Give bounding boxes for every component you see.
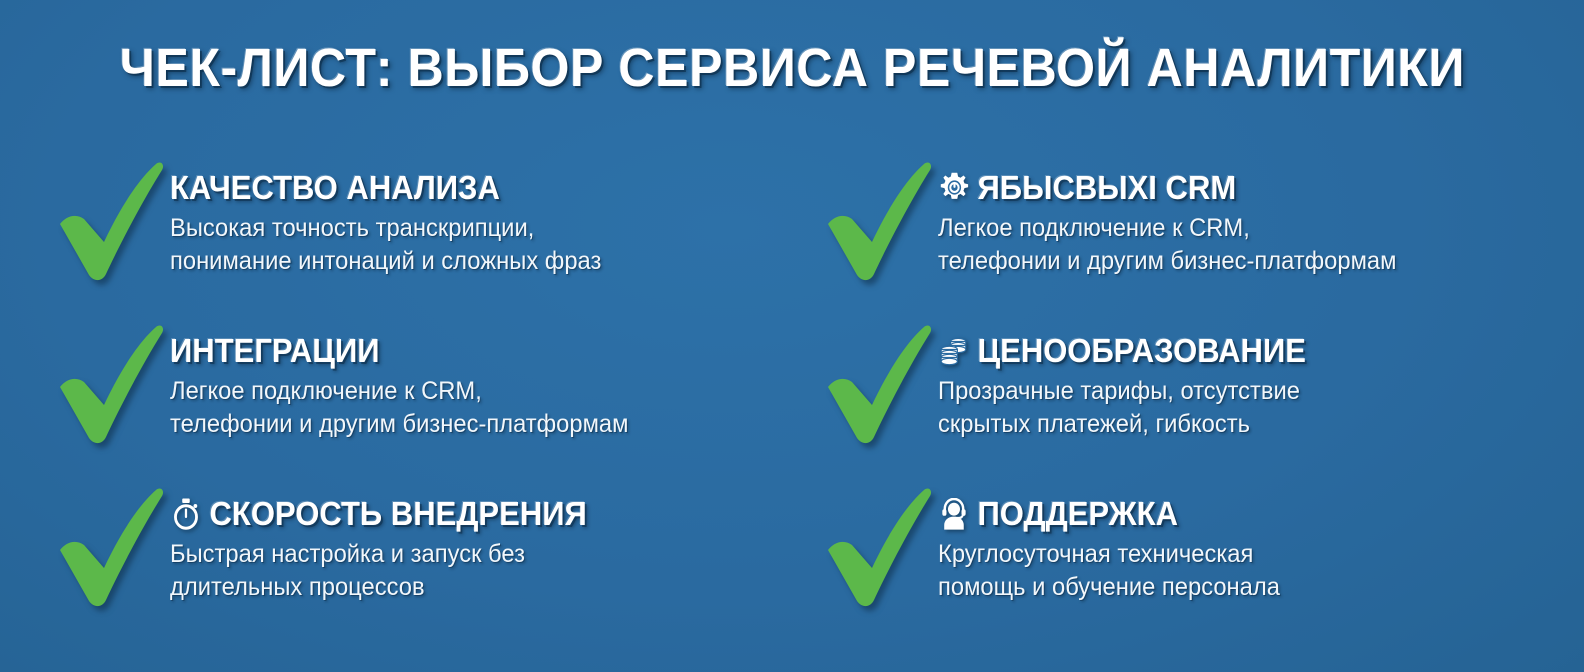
support-agent-icon [938,497,970,531]
check-mark-icon [820,156,938,282]
checklist-item: ЯБЫСВЫХІ CRM Легкое подключение к CRM, т… [820,150,1564,313]
checklist-item-text: ЦЕНООБРАЗОВАНИЕ Прозрачные тарифы, отсут… [938,313,1564,441]
check-mark-icon [52,319,170,445]
check-mark-icon [820,482,938,608]
page-title: ЧЕК-ЛИСТ: ВЫБОР СЕРВИСА РЕЧЕВОЙ АНАЛИТИК… [119,40,1464,97]
checklist-item: ИНТЕГРАЦИИ Легкое подключение к CRM, тел… [52,313,762,476]
checklist-item-heading-text: ЯБЫСВЫХІ CRM [977,170,1236,206]
gear-icon [938,171,970,205]
checklist-item: КАЧЕСТВО АНАЛИЗА Высокая точность транск… [52,150,762,313]
stopwatch-icon [170,497,202,531]
checklist-item-heading: СКОРОСТЬ ВНЕДРЕНИЯ [170,496,726,532]
checklist-item-description: Круглосуточная техническая помощь и обуч… [938,538,1533,604]
title-bar: ЧЕК-ЛИСТ: ВЫБОР СЕРВИСА РЕЧЕВОЙ АНАЛИТИК… [0,40,1584,97]
checklist-item-heading-text: ПОДДЕРЖКА [977,496,1178,532]
checklist-item-heading: ИНТЕГРАЦИИ [170,333,726,369]
checklist-item-heading: ЯБЫСВЫХІ CRM [938,170,1526,206]
checklist-columns: КАЧЕСТВО АНАЛИЗА Высокая точность транск… [0,150,1584,660]
checklist-item-description: Прозрачные тарифы, отсутствие скрытых пл… [938,375,1533,441]
checklist-item-heading-text: ИНТЕГРАЦИИ [170,333,380,369]
checklist-item-heading-text: ЦЕНООБРАЗОВАНИЕ [977,333,1305,369]
checklist-item: ЦЕНООБРАЗОВАНИЕ Прозрачные тарифы, отсут… [820,313,1564,476]
coins-icon [938,334,970,368]
checklist-column-right: ЯБЫСВЫХІ CRM Легкое подключение к CRM, т… [792,150,1584,660]
check-mark-icon [820,319,938,445]
checklist-item-heading-text: КАЧЕСТВО АНАЛИЗА [170,170,500,206]
checklist-item: СКОРОСТЬ ВНЕДРЕНИЯ Быстрая настройка и з… [52,476,762,639]
checklist-item-text: СКОРОСТЬ ВНЕДРЕНИЯ Быстрая настройка и з… [170,476,762,604]
checklist-poster: ЧЕК-ЛИСТ: ВЫБОР СЕРВИСА РЕЧЕВОЙ АНАЛИТИК… [0,0,1584,672]
checklist-item-text: КАЧЕСТВО АНАЛИЗА Высокая точность транск… [170,150,762,278]
checklist-column-left: КАЧЕСТВО АНАЛИЗА Высокая точность транск… [0,150,792,660]
checklist-item-heading: ЦЕНООБРАЗОВАНИЕ [938,333,1526,369]
checklist-item-description: Высокая точность транскрипции, понимание… [170,212,732,278]
checklist-item-description: Быстрая настройка и запуск без длительны… [170,538,732,604]
checklist-item-description: Легкое подключение к CRM, телефонии и др… [938,212,1533,278]
checklist-item-text: ИНТЕГРАЦИИ Легкое подключение к CRM, тел… [170,313,762,441]
checklist-item: ПОДДЕРЖКА Круглосуточная техническая пом… [820,476,1564,639]
check-mark-icon [52,482,170,608]
checklist-item-text: ЯБЫСВЫХІ CRM Легкое подключение к CRM, т… [938,150,1564,278]
checklist-item-heading: КАЧЕСТВО АНАЛИЗА [170,170,726,206]
checklist-item-description: Легкое подключение к CRM, телефонии и др… [170,375,732,441]
checklist-item-heading: ПОДДЕРЖКА [938,496,1526,532]
checklist-item-text: ПОДДЕРЖКА Круглосуточная техническая пом… [938,476,1564,604]
checklist-item-heading-text: СКОРОСТЬ ВНЕДРЕНИЯ [209,496,586,532]
check-mark-icon [52,156,170,282]
